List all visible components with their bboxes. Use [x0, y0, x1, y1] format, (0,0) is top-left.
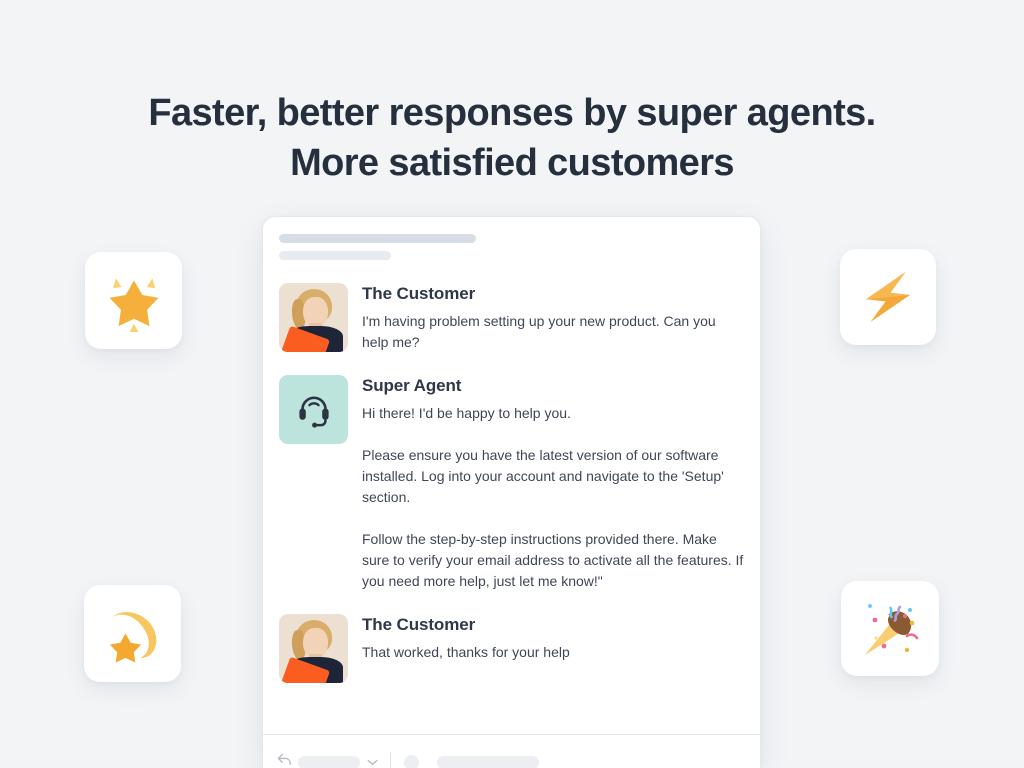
message-body: Super Agent Hi there! I'd be happy to he… — [362, 375, 744, 592]
party-popper-icon — [855, 594, 925, 664]
chevron-down-icon[interactable] — [367, 753, 378, 768]
message-sender: Super Agent — [362, 376, 744, 396]
reply-arrow-icon[interactable] — [277, 753, 292, 768]
avatar — [279, 375, 348, 444]
message-body: The Customer I'm having problem setting … — [362, 283, 744, 353]
avatar — [279, 614, 348, 683]
headline-line-1: Faster, better responses by super agents… — [0, 88, 1024, 138]
message-sender: The Customer — [362, 615, 744, 635]
chat-conversation-card: The Customer I'm having problem setting … — [262, 216, 761, 768]
message-item: Super Agent Hi there! I'd be happy to he… — [279, 375, 744, 592]
avatar — [279, 283, 348, 352]
decoration-tile-glowing-star — [85, 252, 182, 349]
message-body: The Customer That worked, thanks for you… — [362, 614, 744, 663]
skeleton-subtitle-bar — [279, 251, 391, 260]
message-sender: The Customer — [362, 284, 744, 304]
skeleton-title-bar — [279, 234, 476, 243]
shooting-star-icon — [98, 599, 168, 669]
message-paragraph: That worked, thanks for your help — [362, 642, 744, 663]
headline-line-2: More satisfied customers — [0, 138, 1024, 188]
decoration-tile-shooting-star — [84, 585, 181, 682]
channel-selector-placeholder[interactable] — [298, 756, 360, 768]
composer-input-placeholder[interactable] — [437, 756, 539, 768]
card-header-skeleton — [263, 217, 760, 260]
message-item: The Customer That worked, thanks for you… — [279, 614, 744, 683]
toolbar-divider — [390, 752, 391, 768]
page-title: Faster, better responses by super agents… — [0, 88, 1024, 188]
decoration-tile-party-popper — [841, 581, 939, 676]
composer-toolbar — [263, 734, 760, 768]
message-paragraph: I'm having problem setting up your new p… — [362, 311, 744, 353]
lightning-bolt-icon — [853, 262, 923, 332]
composer-avatar-placeholder — [404, 755, 419, 768]
headset-icon — [295, 391, 333, 429]
star-icon — [99, 266, 169, 336]
message-paragraph: Follow the step-by-step instructions pro… — [362, 529, 744, 592]
message-item: The Customer I'm having problem setting … — [279, 283, 744, 353]
message-paragraph: Hi there! I'd be happy to help you. — [362, 403, 744, 424]
message-list: The Customer I'm having problem setting … — [263, 260, 760, 734]
message-paragraph: Please ensure you have the latest versio… — [362, 445, 744, 508]
decoration-tile-high-voltage — [840, 249, 936, 345]
